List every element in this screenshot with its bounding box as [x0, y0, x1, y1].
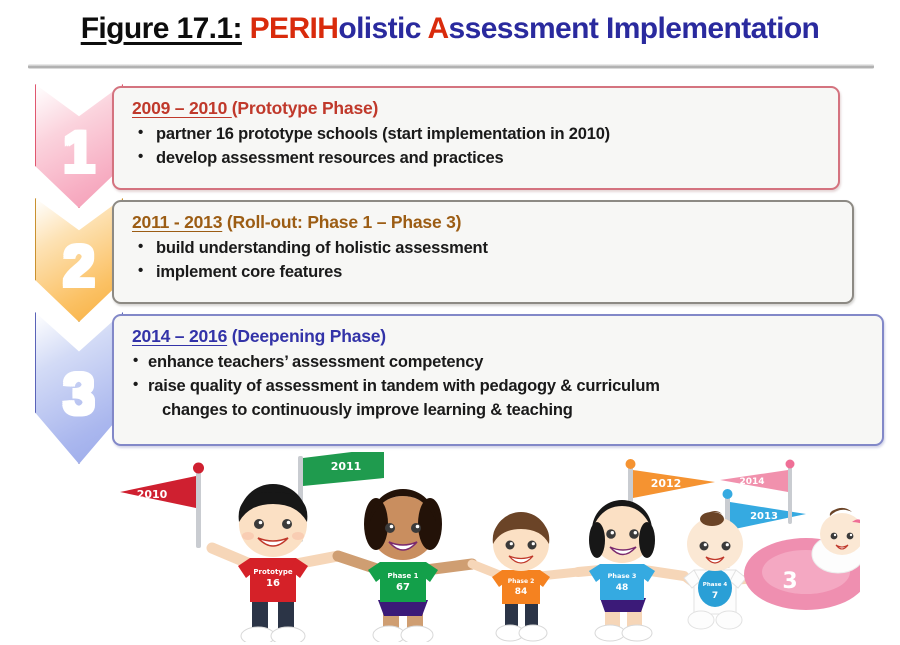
title-a: A: [427, 12, 448, 45]
phase-chevron-3[interactable]: 3: [35, 312, 123, 464]
child-1-shirt-line2: 16: [266, 578, 280, 589]
child-4-shirt-line2: 48: [616, 583, 629, 593]
list-item: develop assessment resources and practic…: [132, 147, 824, 171]
phase-2-bullets: build understanding of holistic assessme…: [132, 237, 838, 285]
page-title: Figure 17.1: PERIHolistic Assessment Imp…: [0, 12, 900, 46]
phase-3-subtitle: (Deepening Phase): [227, 326, 386, 346]
list-item-continuation: changes to continuously improve learning…: [132, 399, 868, 423]
list-item: implement core features: [132, 261, 838, 285]
title-remainder: ssessment Implementation: [449, 12, 820, 45]
phase-box-2: 2011 - 2013 (Roll-out: Phase 1 – Phase 3…: [112, 200, 854, 304]
flag-2010-label: 2010: [137, 488, 168, 501]
flag-2013-label: 2013: [750, 511, 778, 522]
phase-3-heading: 2014 – 2016 (Deepening Phase): [132, 326, 868, 347]
child-5-shirt-line1: Phase 4: [703, 582, 728, 588]
child-1-shirt-line1: Prototype: [253, 568, 292, 576]
child-3-shirt-line2: 84: [515, 587, 528, 597]
phase-3-bullets: enhance teachers’ assessment competency …: [132, 351, 868, 423]
flag-2011-label: 2011: [331, 460, 362, 473]
child-4-shirt-line1: Phase 3: [608, 572, 637, 580]
phase-number-1: 1: [63, 124, 95, 182]
child-2-shirt-line1: Phase 1: [387, 572, 418, 580]
phase-2-years: 2011 - 2013: [132, 212, 222, 232]
phase-1-subtitle: (Prototype Phase): [232, 98, 378, 118]
figure-label: Figure 17.1:: [81, 12, 242, 45]
child-4: Phase 3 48: [578, 500, 684, 641]
phase-2-subtitle: (Roll-out: Phase 1 – Phase 3): [222, 212, 461, 232]
baby-cushion-number: 3: [782, 569, 797, 594]
list-item: build understanding of holistic assessme…: [132, 237, 838, 261]
title-peri: PERI: [250, 12, 318, 45]
phase-number-2: 2: [63, 238, 95, 296]
child-2: Phase 1 67: [338, 489, 472, 642]
figure-root: Figure 17.1: PERIHolistic Assessment Imp…: [0, 0, 900, 645]
phase-1-bullets: partner 16 prototype schools (start impl…: [132, 123, 824, 171]
child-3-shirt-line1: Phase 2: [508, 578, 535, 585]
phase-1-years: 2009 – 2010: [132, 98, 232, 118]
child-2-shirt-line2: 67: [396, 582, 410, 593]
flag-2012-label: 2012: [651, 477, 682, 490]
child-3: Phase 2 84: [472, 512, 578, 641]
child-1: Prototype 16: [212, 484, 338, 642]
phase-chevron-2[interactable]: 2: [35, 198, 123, 322]
list-item: enhance teachers’ assessment competency: [132, 351, 868, 375]
title-divider: [28, 64, 874, 69]
phase-2-heading: 2011 - 2013 (Roll-out: Phase 1 – Phase 3…: [132, 212, 838, 233]
children-illustration: 2010 2011 2012 2013: [100, 452, 860, 642]
phase-box-1: 2009 – 2010 (Prototype Phase) partner 16…: [112, 86, 840, 190]
phase-number-3: 3: [63, 366, 95, 424]
title-olistic: olistic: [338, 12, 427, 45]
child-5-shirt-line2: 7: [712, 591, 718, 601]
phase-box-3: 2014 – 2016 (Deepening Phase) enhance te…: [112, 314, 884, 446]
title-h: H: [317, 12, 338, 45]
phase-3-years: 2014 – 2016: [132, 326, 227, 346]
list-item: raise quality of assessment in tandem wi…: [132, 375, 868, 399]
phase-1-heading: 2009 – 2010 (Prototype Phase): [132, 98, 824, 119]
flag-2014-label: 2014: [739, 477, 764, 487]
phase-chevron-1[interactable]: 1: [35, 84, 123, 208]
flag-2010: 2010: [120, 463, 204, 549]
list-item: partner 16 prototype schools (start impl…: [132, 123, 824, 147]
